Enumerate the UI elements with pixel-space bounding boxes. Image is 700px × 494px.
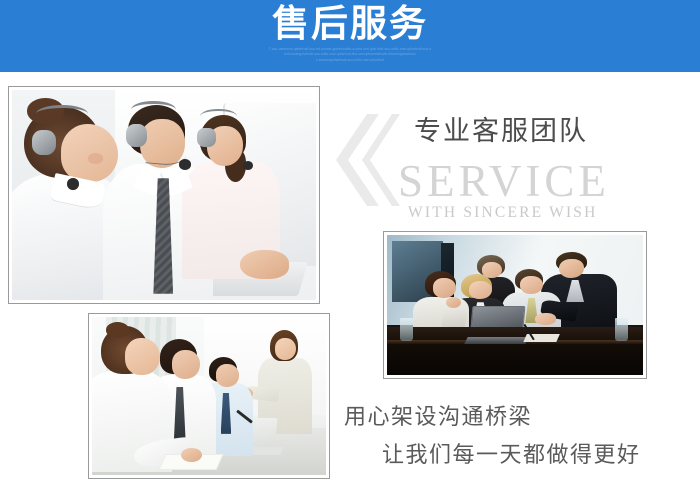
page-title: 售后服务 <box>0 3 700 45</box>
headline-english: SERVICE <box>398 155 610 207</box>
foreground-woman-face <box>125 338 160 376</box>
agent-a-headset-cup <box>32 130 56 155</box>
photo-team-meeting-bright-inner <box>92 317 326 475</box>
headline-chinese: 专业客服团队 <box>414 115 588 149</box>
agent-hand-on-keyboard <box>240 250 289 279</box>
bright-meeting-scene <box>92 317 326 475</box>
agent-b-headset-cup <box>126 124 147 147</box>
service-banner-page: 售后服务 T-ouu-ueferoom-ipiterfrodf-suo-ed-l… <box>0 0 700 494</box>
dark-laptop-keyboard <box>465 337 530 344</box>
agent-a-cheek <box>88 153 103 164</box>
page-header-banner: 售后服务 T-ouu-ueferoom-ipiterfrodf-suo-ed-l… <box>0 0 700 72</box>
dark-desk <box>387 327 643 375</box>
slogan-block: 用心架设沟通桥梁 让我们每一天都做得更好 <box>344 399 694 475</box>
banner-subtext: T-ouu-ueferoom-ipiterfrodf-suo-ed-loroom… <box>0 47 700 63</box>
photo-business-meeting-dark <box>383 231 647 379</box>
agent-b-microphone <box>179 159 191 170</box>
attendee-blue-shirt-face <box>216 364 239 386</box>
call-center-scene <box>12 90 316 300</box>
headline-subtitle: WITH SINCERE WISH <box>408 203 598 222</box>
agent-a-headset-band <box>36 105 88 123</box>
photo-call-center-agents <box>8 86 320 304</box>
agent-a-microphone <box>67 178 79 190</box>
double-chevron-left-icon <box>334 112 400 208</box>
agent-c-headset-cup <box>197 128 215 147</box>
agent-b-headset-band <box>131 101 177 119</box>
agent-c-microphone <box>243 161 253 170</box>
seated-woman-hand <box>446 297 461 308</box>
seated-woman-face <box>433 278 456 298</box>
slogan-line-2: 让我们每一天都做得更好 <box>344 437 694 475</box>
seated-man-hand <box>535 313 555 324</box>
foreground-woman-bun <box>106 322 129 338</box>
photo-business-meeting-dark-inner <box>387 235 643 375</box>
photo-team-meeting-bright <box>88 313 330 479</box>
seated-man-face <box>520 276 543 294</box>
attendee-white-shirt-face <box>172 350 200 378</box>
slogan-line-1: 用心架设沟通桥梁 <box>344 405 532 430</box>
dark-meeting-scene <box>387 235 643 375</box>
agent-c-headset-band <box>200 109 236 124</box>
water-glass-right <box>615 318 628 342</box>
photo-call-center-agents-inner <box>12 90 316 300</box>
water-glass-left <box>400 318 413 342</box>
presenter-face <box>275 338 296 360</box>
